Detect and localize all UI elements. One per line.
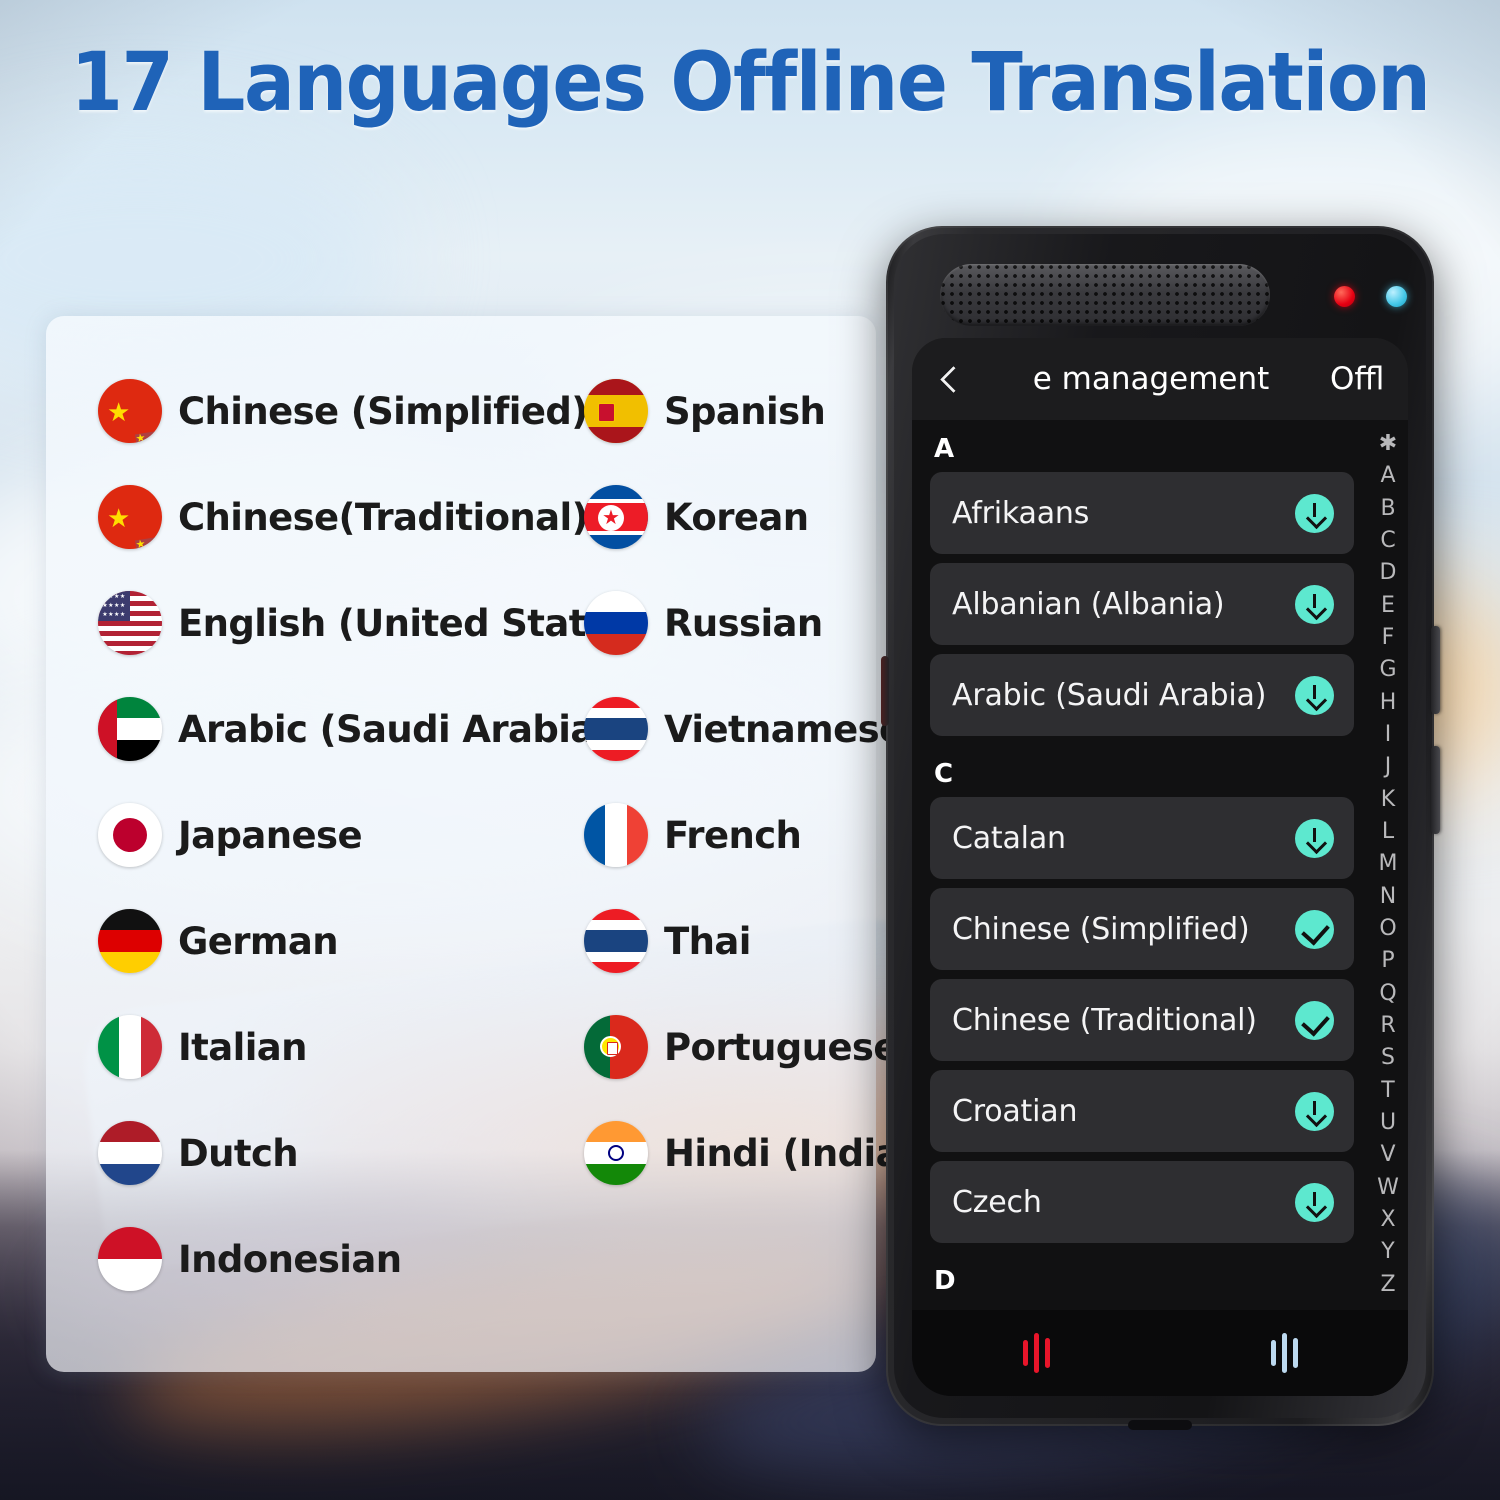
list-item: Spanish: [584, 358, 924, 464]
alphabet-index-letter[interactable]: Q: [1379, 978, 1396, 1010]
flag-germany-icon: [98, 909, 162, 973]
language-label: Thai: [664, 920, 751, 963]
check-icon[interactable]: [1295, 910, 1334, 949]
led-blue-icon: [1386, 286, 1407, 307]
language-label: Indonesian: [178, 1238, 401, 1281]
alphabet-index-letter[interactable]: A: [1380, 460, 1395, 492]
page-title: 17 Languages Offline Translation: [53, 36, 1448, 130]
table-row[interactable]: Catalan: [930, 797, 1354, 879]
list-item: ★★★★★ Chinese(Traditional): [98, 464, 584, 570]
list-item: Portuguese: [584, 994, 924, 1100]
alphabet-index-letter[interactable]: V: [1380, 1139, 1395, 1171]
language-label: Dutch: [178, 1132, 298, 1175]
language-label: Korean: [664, 496, 809, 539]
row-label: Arabic (Saudi Arabia): [952, 678, 1295, 713]
volume-up-button[interactable]: [1431, 626, 1440, 714]
alphabet-index-letter[interactable]: P: [1381, 945, 1394, 977]
alphabet-index-letter[interactable]: J: [1385, 751, 1392, 783]
alphabet-index-letter[interactable]: R: [1380, 1010, 1395, 1042]
alphabet-index-letter[interactable]: X: [1380, 1204, 1395, 1236]
row-label: Catalan: [952, 821, 1295, 856]
translator-device: e management Offl A Afrikaans Albanian (…: [886, 226, 1434, 1426]
download-icon[interactable]: [1295, 1183, 1334, 1222]
waveform-icon-red[interactable]: [912, 1333, 1160, 1373]
language-label: Spanish: [664, 390, 825, 433]
language-label: Chinese(Traditional): [178, 496, 588, 539]
device-screen: e management Offl A Afrikaans Albanian (…: [912, 338, 1408, 1396]
speaker-grille-icon: [940, 264, 1270, 326]
list-scroll-area[interactable]: A Afrikaans Albanian (Albania) Arabic (S…: [912, 420, 1368, 1396]
download-icon[interactable]: [1295, 585, 1334, 624]
download-icon[interactable]: [1295, 494, 1334, 533]
language-label: Japanese: [178, 814, 362, 857]
flag-indonesia-icon: [98, 1227, 162, 1291]
list-item: Arabic (Saudi Arabia): [98, 676, 584, 782]
app-bar-title: e management: [966, 361, 1330, 397]
language-label: German: [178, 920, 338, 963]
waveform-icon-blue[interactable]: [1160, 1333, 1408, 1373]
row-label: Albanian (Albania): [952, 587, 1295, 622]
device-bottom-port: [1128, 1420, 1192, 1430]
table-row[interactable]: Afrikaans: [930, 472, 1354, 554]
language-grid: ★★★★★ Chinese (Simplified) Spanish ★★★★★…: [46, 358, 876, 1312]
alphabet-index-scrubber[interactable]: ✱ABCDEFGHIJKLMNOPQRSTUVWXYZ: [1368, 420, 1408, 1338]
flag-portugal-icon: [584, 1015, 648, 1079]
alphabet-index-letter[interactable]: O: [1379, 913, 1396, 945]
alphabet-index-letter[interactable]: ✱: [1379, 428, 1397, 460]
table-row[interactable]: Czech: [930, 1161, 1354, 1243]
language-label: Arabic (Saudi Arabia): [178, 708, 611, 751]
alphabet-index-letter[interactable]: I: [1385, 719, 1392, 751]
alphabet-index-letter[interactable]: M: [1379, 848, 1398, 880]
list-item: Italian: [98, 994, 584, 1100]
table-row[interactable]: Chinese (Simplified): [930, 888, 1354, 970]
chevron-left-icon[interactable]: [932, 362, 966, 396]
alphabet-index-letter[interactable]: K: [1381, 784, 1395, 816]
row-label: Czech: [952, 1185, 1295, 1220]
language-label: French: [664, 814, 801, 857]
app-bar: e management Offl: [912, 338, 1408, 420]
flag-united-states-icon: [98, 591, 162, 655]
flag-korea-icon: ★: [584, 485, 648, 549]
alphabet-index-letter[interactable]: G: [1379, 654, 1396, 686]
table-row[interactable]: Albanian (Albania): [930, 563, 1354, 645]
language-label: Vietnamese: [664, 708, 904, 751]
list-item: Russian: [584, 570, 924, 676]
section-header: A: [930, 420, 1354, 472]
language-label: Chinese (Simplified): [178, 390, 588, 433]
download-icon[interactable]: [1295, 819, 1334, 858]
alphabet-index-letter[interactable]: L: [1382, 816, 1394, 848]
speaker-zone: [916, 250, 1404, 342]
section-header: D: [930, 1252, 1354, 1304]
language-label: Hindi (India): [664, 1132, 916, 1175]
language-label: Italian: [178, 1026, 307, 1069]
list-item: ★★★★★ Chinese (Simplified): [98, 358, 584, 464]
volume-down-button[interactable]: [1431, 746, 1440, 834]
list-item: Vietnamese: [584, 676, 924, 782]
list-item: English (United States): [98, 570, 584, 676]
list-item: Hindi (India): [584, 1100, 924, 1206]
alphabet-index-letter[interactable]: C: [1380, 525, 1395, 557]
list-item: Dutch: [98, 1100, 584, 1206]
alphabet-index-letter[interactable]: Y: [1381, 1236, 1394, 1268]
flag-china-icon: ★★★★★: [98, 379, 162, 443]
list-item: ★ Korean: [584, 464, 924, 570]
led-red-icon: [1334, 286, 1355, 307]
row-label: Chinese (Simplified): [952, 912, 1295, 947]
language-management-list[interactable]: A Afrikaans Albanian (Albania) Arabic (S…: [912, 420, 1408, 1396]
flag-france-icon: [584, 803, 648, 867]
alphabet-index-letter[interactable]: E: [1381, 590, 1395, 622]
flag-china-icon: ★★★★★: [98, 485, 162, 549]
language-label: Portuguese: [664, 1026, 898, 1069]
check-icon[interactable]: [1295, 1001, 1334, 1040]
alphabet-index-letter[interactable]: W: [1377, 1172, 1399, 1204]
flag-russia-icon: [584, 591, 648, 655]
alphabet-index-letter[interactable]: S: [1381, 1042, 1395, 1074]
list-item: Indonesian: [98, 1206, 584, 1312]
flag-spain-icon: [584, 379, 648, 443]
alphabet-index-letter[interactable]: F: [1382, 622, 1395, 654]
alphabet-index-letter[interactable]: H: [1380, 687, 1397, 719]
section-header: C: [930, 745, 1354, 797]
language-label: Russian: [664, 602, 823, 645]
flag-netherlands-icon: [98, 1121, 162, 1185]
alphabet-index-letter[interactable]: U: [1380, 1107, 1396, 1139]
list-item: Thai: [584, 888, 924, 994]
offline-action-button[interactable]: Offl: [1330, 361, 1394, 397]
download-icon[interactable]: [1295, 676, 1334, 715]
row-label: Chinese (Traditional): [952, 1003, 1295, 1038]
list-item: Japanese: [98, 782, 584, 888]
list-item: German: [98, 888, 584, 994]
table-row[interactable]: Chinese (Traditional): [930, 979, 1354, 1061]
flag-uae-icon: [98, 697, 162, 761]
language-list-panel: ★★★★★ Chinese (Simplified) Spanish ★★★★★…: [46, 316, 876, 1372]
alphabet-index-letter[interactable]: N: [1380, 881, 1396, 913]
row-label: Croatian: [952, 1094, 1295, 1129]
flag-italy-icon: [98, 1015, 162, 1079]
table-row[interactable]: Croatian: [930, 1070, 1354, 1152]
alphabet-index-letter[interactable]: D: [1380, 557, 1397, 589]
bottom-bar: [912, 1310, 1408, 1396]
row-label: Afrikaans: [952, 496, 1295, 531]
flag-thailand-icon: [584, 909, 648, 973]
flag-japan-icon: [98, 803, 162, 867]
alphabet-index-letter[interactable]: Z: [1380, 1269, 1395, 1301]
alphabet-index-letter[interactable]: T: [1381, 1075, 1394, 1107]
language-label: English (United States): [178, 602, 648, 645]
table-row[interactable]: Arabic (Saudi Arabia): [930, 654, 1354, 736]
download-icon[interactable]: [1295, 1092, 1334, 1131]
flag-india-icon: [584, 1121, 648, 1185]
side-record-button[interactable]: [881, 656, 889, 726]
alphabet-index-letter[interactable]: B: [1380, 493, 1395, 525]
list-item: French: [584, 782, 924, 888]
flag-thailand-icon: [584, 697, 648, 761]
